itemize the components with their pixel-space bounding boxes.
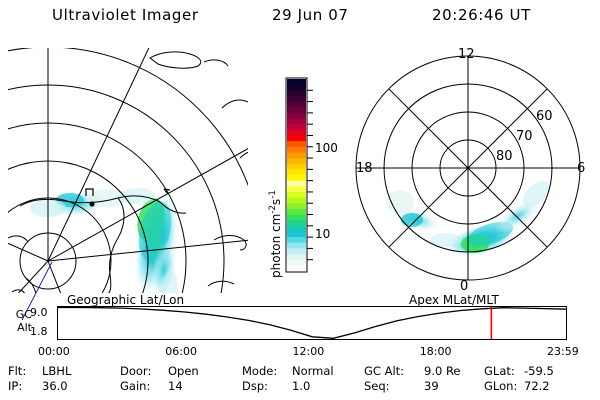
status-label-gc-alt: GC Alt: xyxy=(364,364,404,378)
colorbar-swatch xyxy=(287,260,306,266)
colorbar-label-100: 100 xyxy=(315,141,338,155)
colorbar-swatch xyxy=(287,96,306,102)
colorbar-swatch xyxy=(287,152,306,158)
status-value-door: Open xyxy=(168,364,199,378)
ground-station-marker xyxy=(89,201,94,206)
colorbar-swatch xyxy=(287,220,306,226)
status-label-seq: Seq: xyxy=(364,379,390,393)
colorbar-swatch xyxy=(287,243,306,249)
colorbar-swatch xyxy=(287,130,306,136)
colorbar-ticks xyxy=(307,90,313,259)
colorbar-swatch xyxy=(287,85,306,91)
status-label-dsp: Dsp: xyxy=(242,379,268,393)
status-label-gain: Gain: xyxy=(120,379,150,393)
altitude-axis-label-line1: GC xyxy=(6,308,32,321)
colorbar-swatch xyxy=(287,186,306,192)
mlt-dial-panel: 12 18 6 0 60 70 80 xyxy=(340,44,596,294)
altitude-curve xyxy=(58,308,567,339)
mlat-label-80: 80 xyxy=(496,149,513,164)
colorbar-swatch xyxy=(287,215,306,221)
colorbar-swatch xyxy=(287,119,306,125)
status-label-mode: Mode: xyxy=(242,364,277,378)
timeline-tick-2359: 23:59 xyxy=(547,345,579,358)
colorbar-swatch xyxy=(287,175,306,181)
colorbar-unit-exp1: -2 xyxy=(268,205,278,214)
status-label-door: Door: xyxy=(120,364,151,378)
timeline-tick-1800: 18:00 xyxy=(420,345,452,358)
colorbar-swatch xyxy=(287,203,306,209)
left-panel-caption: Geographic Lat/Lon xyxy=(67,293,184,307)
uvi-display: Ultraviolet Imager 29 Jun 07 20:26:46 UT xyxy=(0,0,600,400)
colorbar-swatch xyxy=(287,254,306,260)
colorbar-swatch xyxy=(287,107,306,113)
status-value-glon: 72.2 xyxy=(524,379,550,393)
aurora-emission-mlt xyxy=(386,176,554,263)
status-label-glon: GLon: xyxy=(484,379,517,393)
colorbar-swatch xyxy=(287,141,306,147)
colorbar-swatch xyxy=(287,231,306,237)
colorbar-swatch xyxy=(287,192,306,198)
colorbar-unit-main: photon cm xyxy=(269,214,283,278)
coastline-outlines xyxy=(8,52,256,318)
timeline-tick-0600: 06:00 xyxy=(165,345,197,358)
colorbar-unit-exp2: -1 xyxy=(268,190,278,199)
colorbar-axis-title: photon cm-2s-1 xyxy=(268,190,283,278)
colorbar-label-10: 10 xyxy=(315,227,330,241)
right-panel-caption: Apex MLat/MLT xyxy=(409,293,499,307)
colorbar-swatch xyxy=(287,198,306,204)
colorbar-swatch xyxy=(287,237,306,243)
colorbar-swatch xyxy=(287,209,306,215)
colorbar-swatch xyxy=(287,102,306,108)
mlt-label-12: 12 xyxy=(458,47,475,62)
geographic-map-svg xyxy=(8,48,248,293)
altitude-plot-frame xyxy=(58,307,567,340)
mlt-label-6: 6 xyxy=(577,161,585,176)
status-value-flt: LBHL xyxy=(42,364,71,378)
status-label-flt: Flt: xyxy=(8,364,26,378)
status-value-ip: 36.0 xyxy=(42,379,68,393)
colorbar-swatch xyxy=(287,158,306,164)
colorbar-swatch xyxy=(287,226,306,232)
timeline-tick-0000: 00:00 xyxy=(38,345,70,358)
colorbar-swatch xyxy=(287,90,306,96)
status-row-1: Flt:LBHLDoor:OpenMode:NormalGC Alt:9.0 R… xyxy=(0,364,600,378)
colorbar-swatch xyxy=(287,181,306,187)
altitude-axis-label-line2: Alt xyxy=(6,321,32,334)
status-value-seq: 39 xyxy=(424,379,439,393)
status-value-gc-alt: 9.0 Re xyxy=(424,364,461,378)
altitude-timeline-plot[interactable] xyxy=(57,306,569,342)
instrument-title: Ultraviolet Imager xyxy=(52,6,199,24)
status-label-glat: GLat: xyxy=(484,364,515,378)
observation-time: 20:26:46 UT xyxy=(432,6,531,24)
status-value-glat: -59.5 xyxy=(524,364,554,378)
colorbar-swatch xyxy=(287,113,306,119)
status-value-mode: Normal xyxy=(292,364,334,378)
mlt-dial-grid xyxy=(356,56,580,280)
mlt-label-18: 18 xyxy=(356,161,373,176)
mlt-dial-svg: 12 18 6 0 60 70 80 xyxy=(340,44,596,294)
colorbar-swatch xyxy=(287,164,306,170)
status-row-2: IP:36.0Gain:14Dsp:1.0Seq:39GLon:72.2 xyxy=(0,379,600,393)
colorbar-swatch xyxy=(287,169,306,175)
status-value-gain: 14 xyxy=(168,379,183,393)
colorbar-unit-mid: s xyxy=(269,199,283,205)
colorbar-swatch xyxy=(287,147,306,153)
colorbar-panel: photon cm-2s-1 100 10 xyxy=(252,70,352,285)
colorbar-swatch xyxy=(287,79,306,85)
altitude-tick-low: 1.8 xyxy=(30,325,48,338)
observation-date: 29 Jun 07 xyxy=(272,6,349,24)
timeline-tick-1200: 12:00 xyxy=(293,345,325,358)
status-label-ip: IP: xyxy=(8,379,22,393)
altitude-axis-label: GC Alt xyxy=(6,308,32,334)
colorbar-swatch xyxy=(287,124,306,130)
colorbar-gradient xyxy=(287,79,306,272)
colorbar-swatch xyxy=(287,135,306,141)
mlt-label-0: 0 xyxy=(460,279,468,294)
mlat-label-70: 70 xyxy=(516,129,533,144)
colorbar-swatch xyxy=(287,265,306,271)
mlat-label-60: 60 xyxy=(536,109,553,124)
status-value-dsp: 1.0 xyxy=(292,379,310,393)
altitude-tick-high: 9.0 xyxy=(30,306,48,319)
geographic-map-panel xyxy=(8,48,248,293)
colorbar-swatch xyxy=(287,248,306,254)
